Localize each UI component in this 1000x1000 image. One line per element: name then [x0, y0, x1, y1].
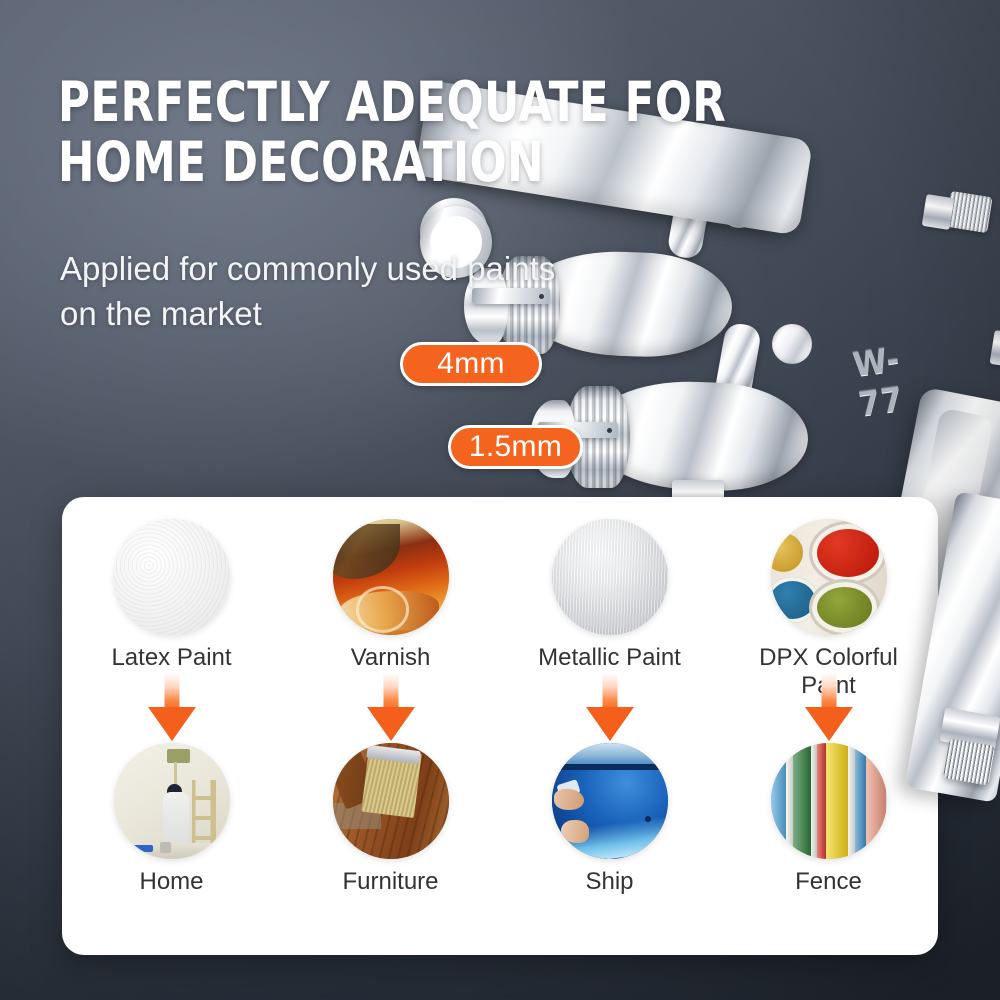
model-mark: W-77 — [851, 339, 909, 425]
varnish-swatch — [333, 519, 449, 635]
paint-type-label: Metallic Paint — [538, 644, 681, 672]
down-arrow-icon — [805, 673, 853, 741]
application-row: Home Furniture — [62, 743, 938, 896]
list-item: Furniture — [281, 743, 500, 896]
application-label: Ship — [585, 868, 633, 896]
paint-type-label: Varnish — [351, 644, 431, 672]
application-label: Home — [139, 868, 203, 896]
fence-photo — [771, 743, 887, 859]
list-item: Ship — [500, 743, 719, 896]
ship-photo — [552, 743, 668, 859]
promo-banner: W-77 PERFECTLY ADEQUATE FOR HO — [0, 0, 1000, 1000]
list-item: Home — [62, 743, 281, 896]
metallic-paint-swatch — [552, 519, 668, 635]
list-item: Fence — [719, 743, 938, 896]
status-badge-nozzle-4mm: 4mm — [400, 342, 542, 386]
down-arrow-icon — [148, 673, 196, 741]
down-arrow-icon — [367, 673, 415, 741]
hex-nut-upper — [922, 194, 955, 230]
paint-type-label: Latex Paint — [111, 644, 231, 672]
page-subtitle: Applied for commonly used paints on the … — [60, 246, 580, 336]
arrow-cell — [281, 673, 500, 741]
home-photo — [114, 743, 230, 859]
latex-paint-swatch — [114, 519, 230, 635]
application-label: Furniture — [342, 868, 438, 896]
compatibility-card: Latex Paint Varnish Metallic Paint — [62, 497, 938, 955]
hex-nut-lower — [990, 330, 1000, 368]
page-title: PERFECTLY ADEQUATE FOR HOME DECORATION — [58, 72, 824, 192]
furniture-photo — [333, 743, 449, 859]
status-badge-nozzle-1-5mm: 1.5mm — [448, 425, 583, 469]
adjust-knob-upper — [945, 191, 992, 233]
air-inlet-knurl-overlap — [943, 738, 995, 785]
application-label: Fence — [795, 868, 862, 896]
arrow-cell — [62, 673, 281, 741]
arrow-cell — [719, 673, 938, 741]
arrow-row — [62, 673, 938, 741]
down-arrow-icon — [586, 673, 634, 741]
pivot-disc-lower — [772, 324, 812, 364]
arrow-cell — [500, 673, 719, 741]
dpx-colorful-paint-swatch — [771, 519, 887, 635]
